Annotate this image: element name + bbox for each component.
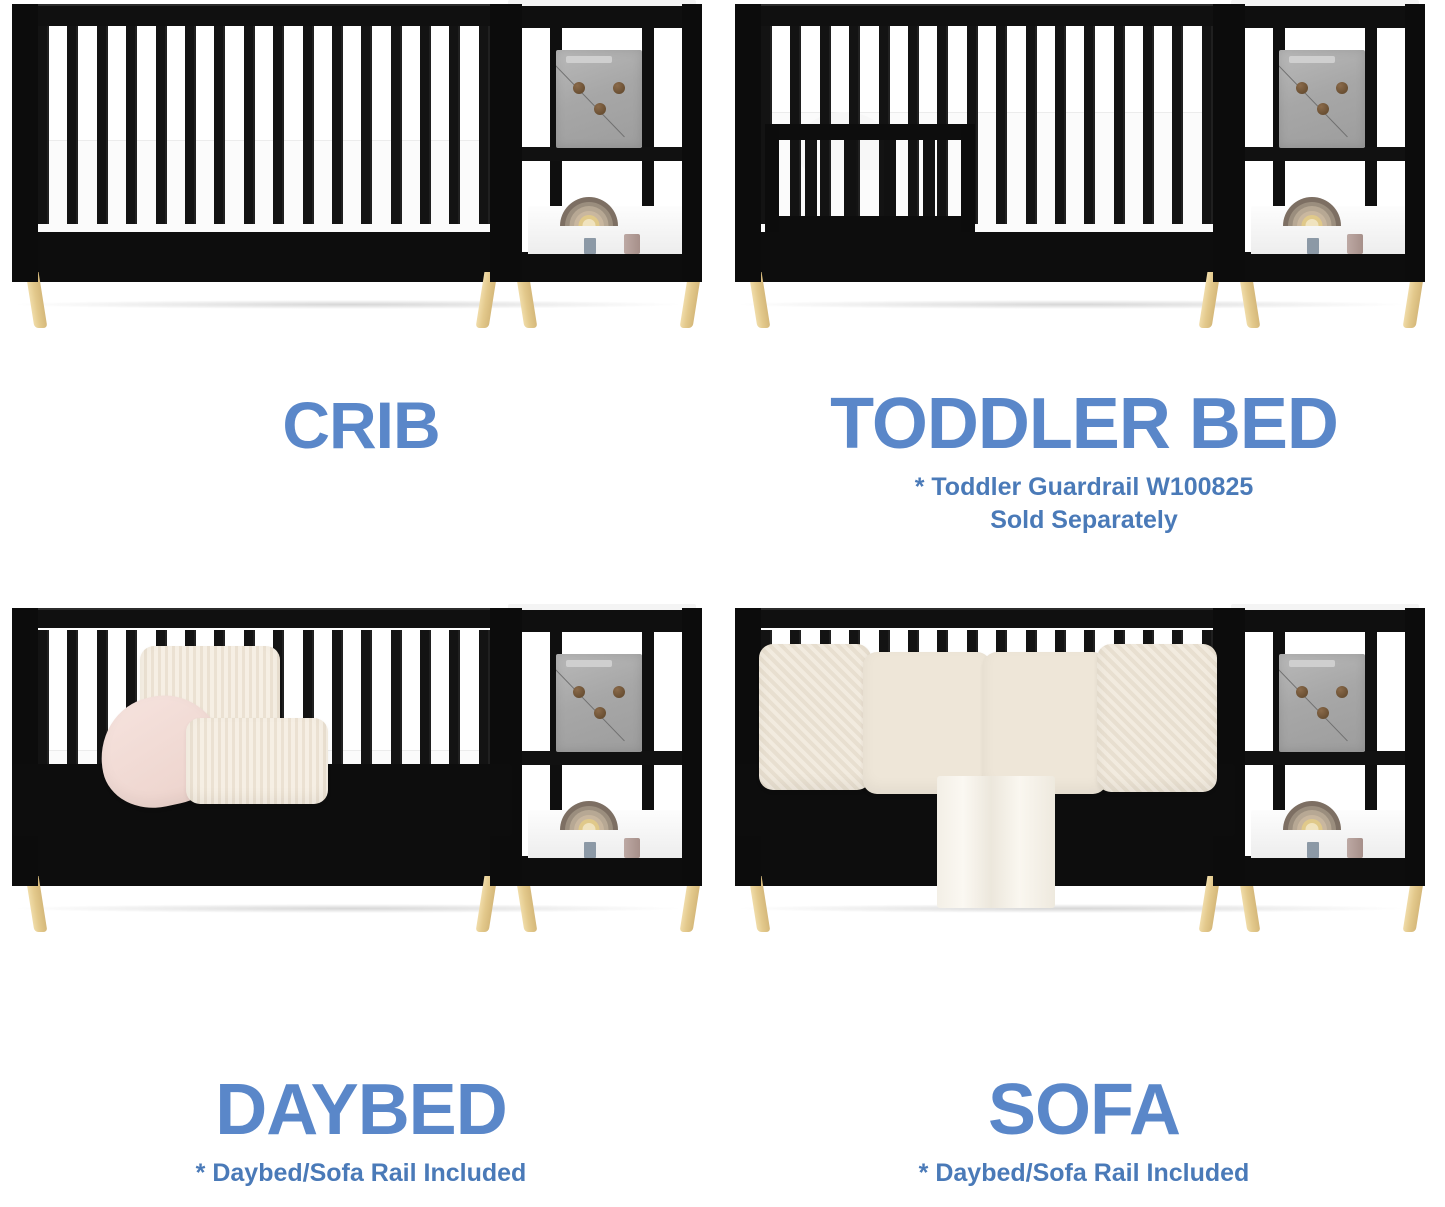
storage-middle-shelf <box>508 147 696 161</box>
daybed-bottom-panel <box>12 828 512 886</box>
cream-lumbar-pillow <box>186 718 328 804</box>
felt-storage-bin <box>1279 50 1365 148</box>
bin-button-eye-left <box>1296 686 1308 698</box>
toddler-bottom-panel <box>735 224 1235 282</box>
plain-pillow-center-right <box>983 652 1107 794</box>
storage-left-side <box>1225 608 1245 886</box>
bin-button-eye-right <box>613 82 625 94</box>
felt-storage-bin <box>556 50 642 148</box>
storage-base <box>1225 856 1425 886</box>
bin-button-nose <box>1317 103 1329 115</box>
bin-handle <box>566 660 612 667</box>
toddler-left-post <box>735 4 761 282</box>
toy-cylinder <box>624 838 640 858</box>
storage-middle-shelf <box>508 751 696 765</box>
sofa-furniture <box>735 608 1425 938</box>
storage-top <box>502 4 702 28</box>
bin-button-eye-right <box>1336 686 1348 698</box>
panel-title-daybed: DAYBED <box>0 1074 722 1146</box>
panel-title-toddler-bed: TODDLER BED <box>723 388 1445 460</box>
sofa-illustration <box>723 604 1445 949</box>
storage-top <box>1225 608 1425 632</box>
wooden-rainbow-stacker-icon <box>1283 196 1341 226</box>
panel-crib: CRIB <box>0 0 722 603</box>
panel-daybed: DAYBED * Daybed/Sofa Rail Included <box>0 604 722 1207</box>
storage-right-side <box>682 4 702 282</box>
panel-sofa: SOFA * Daybed/Sofa Rail Included <box>723 604 1445 1207</box>
toy-block <box>584 842 596 858</box>
guardrail-slats <box>765 140 975 216</box>
crib-furniture <box>12 4 702 334</box>
throw-blanket <box>937 776 1055 908</box>
sofa-frame <box>735 608 1235 886</box>
felt-storage-bin <box>556 654 642 752</box>
toddler-label-block: TODDLER BED * Toddler Guardrail W100825 … <box>723 388 1445 537</box>
storage-left-side <box>502 608 522 886</box>
wooden-rainbow-stacker-icon <box>560 196 618 226</box>
storage-tower <box>1225 608 1425 886</box>
daybed-top-rail <box>12 608 512 628</box>
knit-pillow-left <box>759 644 871 790</box>
toddler-bed-frame <box>735 4 1235 282</box>
panel-title-sofa: SOFA <box>723 1074 1445 1146</box>
sofa-left-post <box>735 608 761 886</box>
toy-block <box>584 238 596 254</box>
crib-bottom-panel <box>12 224 512 282</box>
bin-handle <box>1289 660 1335 667</box>
toy-cylinder <box>624 234 640 254</box>
daybed-frame <box>12 608 512 886</box>
daybed-label-block: DAYBED * Daybed/Sofa Rail Included <box>0 1074 722 1189</box>
toy-cylinder <box>1347 838 1363 858</box>
storage-right-side <box>682 608 702 886</box>
panel-toddler-bed: TODDLER BED * Toddler Guardrail W100825 … <box>723 0 1445 603</box>
crib-top-rail <box>12 4 512 26</box>
toddler-back-top-rail <box>735 4 1235 26</box>
bin-button-eye-left <box>573 82 585 94</box>
bin-button-nose <box>1317 707 1329 719</box>
bin-button-eye-right <box>1336 82 1348 94</box>
daybed-note-line-1: * Daybed/Sofa Rail Included <box>0 1158 722 1189</box>
crib-illustration <box>0 0 722 345</box>
storage-base <box>502 856 702 886</box>
storage-tower <box>502 4 702 282</box>
storage-right-side <box>1405 4 1425 282</box>
toddler-bed-furniture <box>735 4 1425 334</box>
toddler-note-line-2: Sold Separately <box>723 505 1445 536</box>
toddler-bed-illustration <box>723 0 1445 345</box>
storage-middle-shelf <box>1231 751 1419 765</box>
storage-top <box>502 608 702 632</box>
bin-button-eye-right <box>613 686 625 698</box>
toy-block <box>1307 238 1319 254</box>
sofa-top-rail <box>735 608 1235 628</box>
wooden-rainbow-stacker-icon <box>560 800 618 830</box>
toy-cylinder <box>1347 234 1363 254</box>
sofa-label-block: SOFA * Daybed/Sofa Rail Included <box>723 1074 1445 1189</box>
sofa-note-line-1: * Daybed/Sofa Rail Included <box>723 1158 1445 1189</box>
guardrail-top-rail <box>765 124 975 140</box>
toy-block <box>1307 842 1319 858</box>
toddler-note-line-1: * Toddler Guardrail W100825 <box>723 472 1445 503</box>
bin-button-eye-left <box>573 686 585 698</box>
bin-handle <box>1289 56 1335 63</box>
storage-top <box>1225 4 1425 28</box>
daybed-illustration <box>0 604 722 949</box>
bin-button-nose <box>594 103 606 115</box>
guardrail-left-post <box>765 124 779 232</box>
storage-base <box>502 252 702 282</box>
wooden-rainbow-stacker-icon <box>1283 800 1341 830</box>
daybed-furniture <box>12 608 702 938</box>
storage-left-side <box>1225 4 1245 282</box>
toddler-guardrail <box>765 124 975 232</box>
daybed-left-post <box>12 608 38 886</box>
bin-button-nose <box>594 707 606 719</box>
guardrail-bottom-rail <box>765 216 975 232</box>
product-configuration-infographic: CRIB <box>0 0 1445 1207</box>
storage-base <box>1225 252 1425 282</box>
felt-storage-bin <box>1279 654 1365 752</box>
storage-left-side <box>502 4 522 282</box>
storage-middle-shelf <box>1231 147 1419 161</box>
bin-handle <box>566 56 612 63</box>
knit-pillow-right <box>1097 644 1217 792</box>
crib-slats <box>38 26 490 224</box>
crib-frame <box>12 4 512 282</box>
crib-label-block: CRIB <box>0 392 722 458</box>
panel-title-crib: CRIB <box>0 392 722 458</box>
storage-tower <box>502 608 702 886</box>
crib-left-post <box>12 4 38 282</box>
plain-pillow-center-left <box>863 652 991 794</box>
bin-button-eye-left <box>1296 82 1308 94</box>
storage-right-side <box>1405 608 1425 886</box>
guardrail-right-post <box>961 124 975 232</box>
storage-tower <box>1225 4 1425 282</box>
